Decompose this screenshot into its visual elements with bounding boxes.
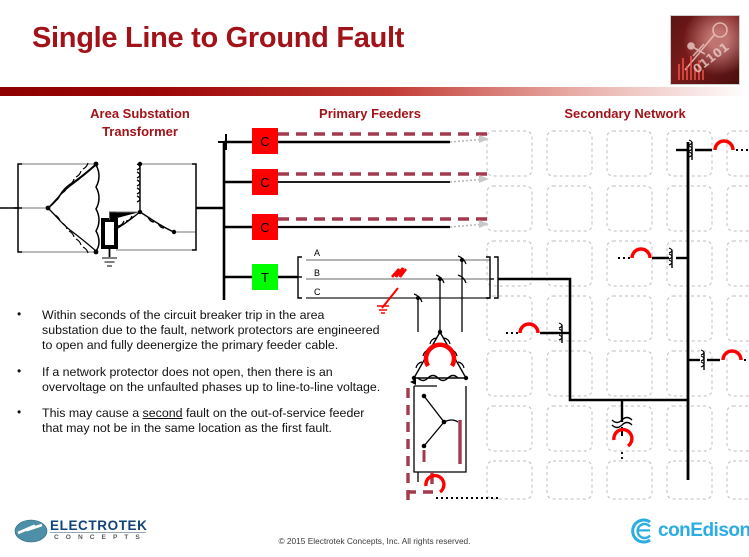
- list-item: • Within seconds of the circuit breaker …: [14, 308, 384, 354]
- electrotek-underline: [50, 532, 146, 533]
- feeder-3: C: [252, 214, 492, 240]
- breaker-2-label: C: [260, 175, 269, 190]
- network-branch-transformer: [612, 418, 632, 461]
- bullet-marker-icon: •: [17, 405, 21, 420]
- customer-transformer-taps: [414, 256, 466, 332]
- bullet-text-2: If a network protector does not open, th…: [42, 365, 380, 394]
- secondary-network-mains: [498, 142, 688, 480]
- svg-text:01101: 01101: [690, 40, 732, 77]
- network-protector-centre: [506, 323, 570, 343]
- slide-root: Single Line to Ground Fault 01101 Area S…: [0, 0, 749, 557]
- area-substation-transformer: [0, 162, 99, 255]
- network-protector-mid-right: [618, 248, 688, 268]
- breaker-1-label: C: [260, 134, 269, 149]
- feeder-2: C: [252, 169, 492, 195]
- instrument-artwork-icon: 01101: [671, 16, 739, 84]
- conedison-mark-icon: [624, 518, 656, 544]
- list-item: • This may cause a second fault on the o…: [14, 406, 384, 436]
- phase-label-a: A: [314, 248, 320, 258]
- page-title: Single Line to Ground Fault: [32, 22, 404, 55]
- network-protector-switchgear: [408, 379, 500, 500]
- bullet-text-1: Within seconds of the circuit breaker tr…: [42, 308, 380, 352]
- title-divider-bar: [0, 87, 749, 96]
- grounding-resistor: [102, 212, 140, 266]
- bullet-list: • Within seconds of the circuit breaker …: [14, 308, 384, 447]
- decorative-corner-image: 01101: [670, 15, 740, 85]
- station-bus: [218, 134, 252, 300]
- electrotek-wordmark: ELECTROTEK: [50, 518, 148, 533]
- conedison-wordmark: conEdison: [658, 520, 749, 542]
- phase-label-b: B: [314, 268, 320, 278]
- list-item: • If a network protector does not open, …: [14, 365, 384, 395]
- network-protector-far-right: [688, 350, 749, 370]
- wye-transformer: [114, 162, 224, 250]
- bullet-marker-icon: •: [17, 307, 21, 322]
- feeder-1: C: [252, 128, 492, 154]
- breaker-4-label: T: [261, 270, 269, 285]
- conedison-logo: conEdison: [624, 518, 746, 546]
- fault-lightning-icon: [377, 268, 406, 313]
- feeder-4-faulted: T: [252, 264, 298, 290]
- bullet-text-3-pre: This may cause a: [42, 406, 143, 420]
- phase-label-c: C: [314, 287, 321, 297]
- secondary-network-grid: [487, 131, 749, 499]
- customer-delta-transformer: [412, 330, 468, 381]
- bullet-marker-icon: •: [17, 364, 21, 379]
- breaker-3-label: C: [260, 220, 269, 235]
- bullet-text-3-underlined: second: [143, 406, 183, 420]
